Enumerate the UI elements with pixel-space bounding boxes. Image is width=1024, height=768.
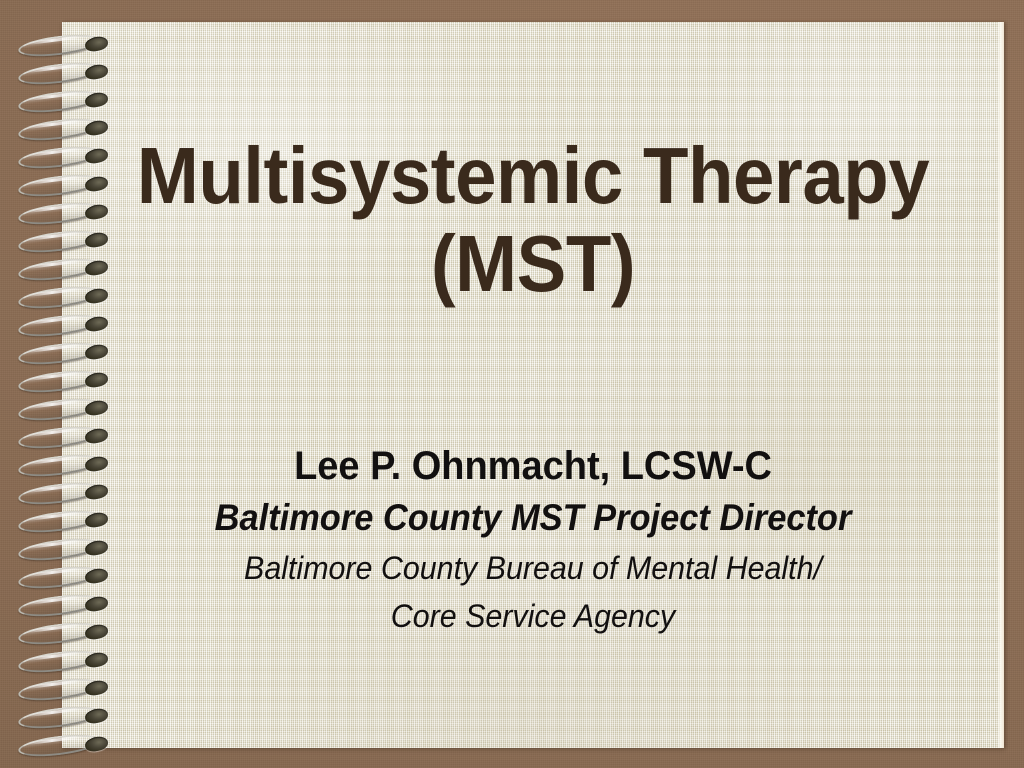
title-line-2: (MST) bbox=[95, 220, 971, 308]
slide-title: Multisystemic Therapy (MST) bbox=[95, 132, 971, 308]
presentation-slide: Multisystemic Therapy (MST) Lee P. Ohnma… bbox=[0, 0, 1024, 768]
slide-subtitle: Lee P. Ohnmacht, LCSW-C Baltimore County… bbox=[62, 440, 1004, 640]
spiral-binding bbox=[0, 0, 120, 768]
subtitle-presenter-role: Baltimore County MST Project Director bbox=[95, 492, 971, 544]
subtitle-organization-line-1: Baltimore County Bureau of Mental Health… bbox=[86, 544, 981, 592]
subtitle-organization-line-2: Core Service Agency bbox=[86, 592, 981, 640]
subtitle-presenter-name: Lee P. Ohnmacht, LCSW-C bbox=[86, 440, 981, 492]
title-line-1: Multisystemic Therapy bbox=[95, 132, 971, 220]
